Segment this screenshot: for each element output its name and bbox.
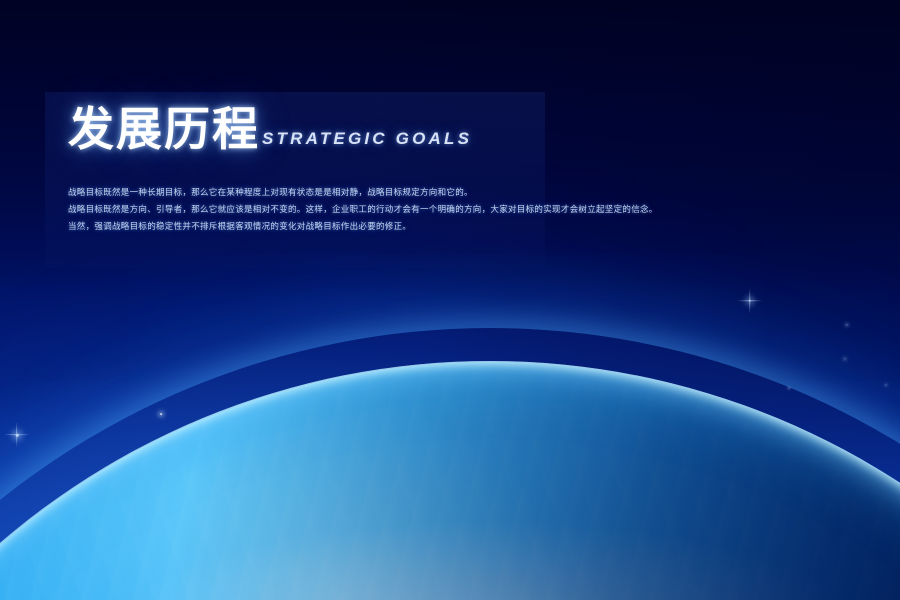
- headline-block: 发展历程 STRATEGIC GOALS: [68, 106, 708, 152]
- page-title: 发展历程: [68, 106, 260, 152]
- star-dim-right-lower: [844, 358, 845, 359]
- body-line: 当然，强调战略目标的稳定性并不排斥根据客观情况的变化对战略目标作出必要的修正。: [68, 219, 768, 236]
- title-row: 发展历程 STRATEGIC GOALS: [68, 106, 708, 152]
- star-bright-right: [749, 300, 751, 302]
- body-line: 战略目标既然是方向、引导者，那么它就应该是相对不变的。这样，企业职工的行动才会有…: [68, 202, 768, 219]
- earth-limb-rim-light: [0, 361, 900, 600]
- body-line: 战略目标既然是一种长期目标，那么它在某种程度上对现有状态是是相对静，战略目标规定…: [68, 185, 768, 202]
- strategic-goals-banner: 发展历程 STRATEGIC GOALS 战略目标既然是一种长期目标，那么它在某…: [0, 0, 900, 600]
- star-dim-right-mid: [846, 324, 847, 325]
- earth-globe: [0, 362, 900, 600]
- body-copy: 战略目标既然是一种长期目标，那么它在某种程度上对现有状态是是相对静，战略目标规定…: [68, 185, 768, 236]
- page-subtitle: STRATEGIC GOALS: [262, 129, 472, 152]
